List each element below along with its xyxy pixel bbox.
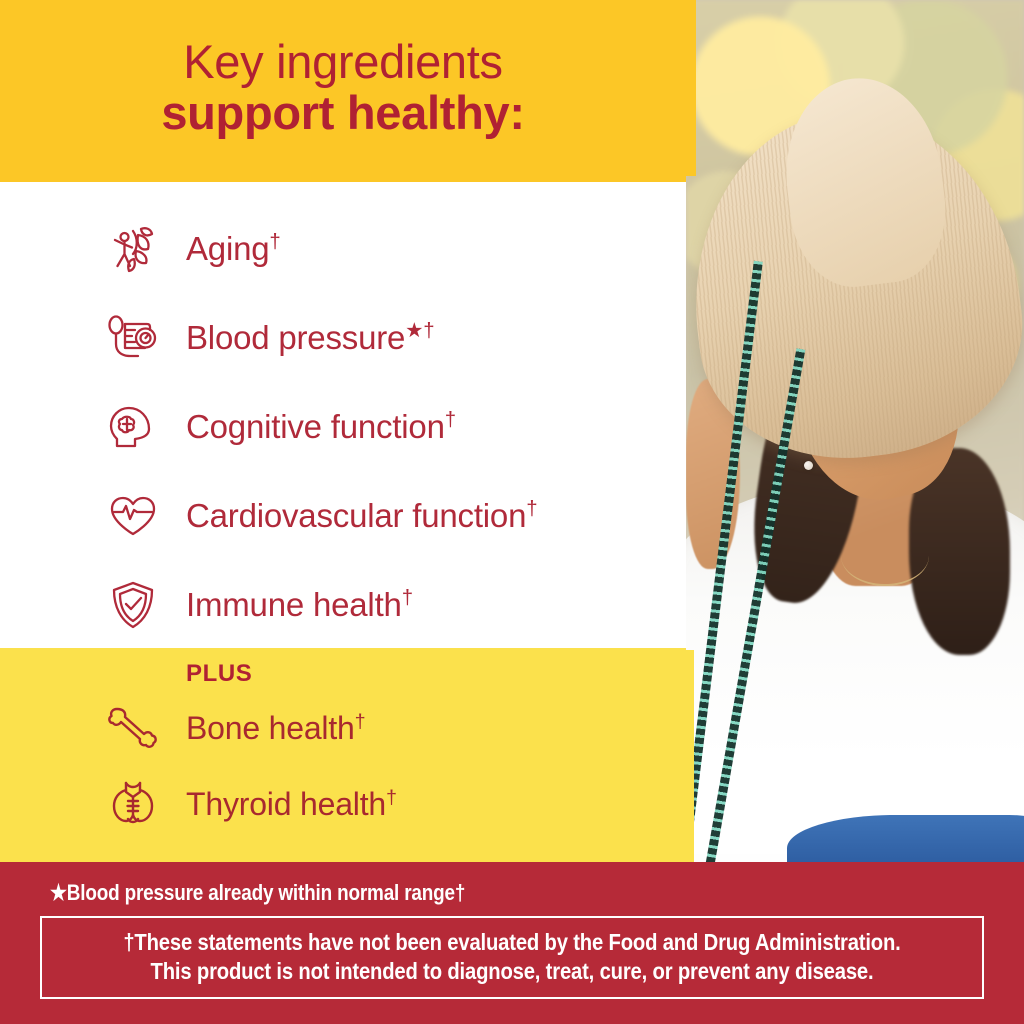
- content-column: Key ingredients support healthy:: [0, 0, 686, 862]
- plus-label: Thyroid health†: [186, 786, 397, 823]
- photo-left-edge-strip-bottom: [686, 650, 694, 862]
- benefit-marks: †: [445, 408, 456, 431]
- thyroid-gland-icon: [104, 775, 162, 833]
- benefit-label: Aging†: [186, 230, 281, 268]
- benefit-item-immune-health: Immune health†: [0, 560, 686, 649]
- benefits-panel: Aging† Blood: [0, 182, 686, 648]
- plus-item-bone-health: Bone health†: [0, 690, 686, 766]
- blood-pressure-cuff-icon: [104, 309, 162, 367]
- footer-disclaimer-band: ★Blood pressure already within normal ra…: [0, 862, 1024, 1024]
- plus-heading: PLUS: [0, 660, 686, 688]
- person-leaves-icon: [104, 220, 162, 278]
- plus-section: PLUS Bone health†: [0, 648, 686, 862]
- plus-marks: †: [355, 710, 366, 732]
- benefit-item-cognitive-function: Cognitive function†: [0, 382, 686, 471]
- fda-disclaimer-box: †These statements have not been evaluate…: [40, 916, 984, 999]
- plus-label: Bone health†: [186, 710, 365, 747]
- benefit-label: Cognitive function†: [186, 408, 456, 446]
- photo-necklace: [841, 526, 929, 586]
- shield-check-icon: [104, 576, 162, 634]
- lifestyle-photo: [686, 0, 1024, 862]
- benefit-item-blood-pressure: Blood pressure★†: [0, 293, 686, 382]
- photo-left-edge-strip-top: [686, 0, 696, 176]
- benefit-item-cardiovascular-function: Cardiovascular function†: [0, 471, 686, 560]
- fda-disclaimer-line-2: This product is not intended to diagnose…: [107, 957, 917, 986]
- benefit-marks: †: [526, 497, 537, 520]
- fda-disclaimer-line-1: †These statements have not been evaluate…: [107, 928, 917, 957]
- benefit-label: Immune health†: [186, 586, 413, 624]
- header-title-line-2: support healthy:: [161, 87, 524, 140]
- benefit-marks: †: [402, 586, 413, 609]
- plus-item-thyroid-health: Thyroid health†: [0, 766, 686, 842]
- bone-icon: [104, 699, 162, 757]
- promo-infographic: Key ingredients support healthy:: [0, 0, 1024, 1024]
- benefit-label: Cardiovascular function†: [186, 497, 537, 535]
- benefit-marks: ★†: [405, 319, 434, 342]
- plus-marks: †: [386, 786, 397, 808]
- heart-pulse-icon: [104, 487, 162, 545]
- brain-head-icon: [104, 398, 162, 456]
- header-title-line-1: Key ingredients: [183, 37, 502, 87]
- blood-pressure-footnote: ★Blood pressure already within normal ra…: [50, 880, 857, 906]
- benefit-label: Blood pressure★†: [186, 318, 434, 357]
- header-banner: Key ingredients support healthy:: [0, 0, 686, 182]
- benefit-marks: †: [269, 230, 280, 253]
- benefit-item-aging: Aging†: [0, 204, 686, 293]
